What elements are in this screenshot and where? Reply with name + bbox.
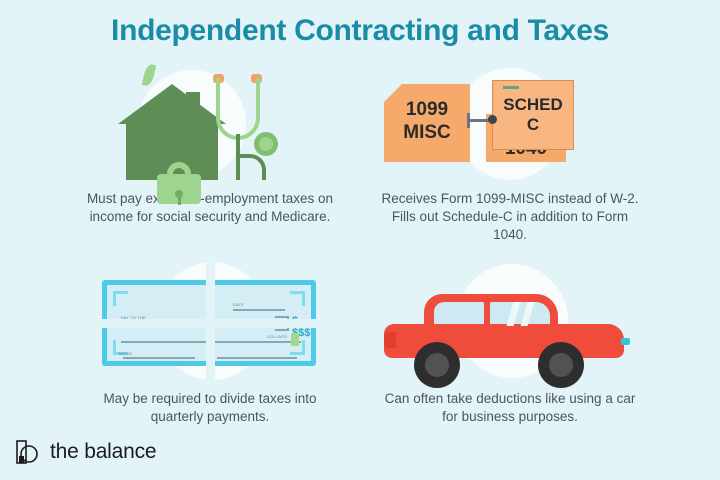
item-caption: Can often take deductions like using a c… [380,390,640,426]
form-card-header-mark [503,86,519,89]
form-card-sched-line2: C [493,115,573,135]
stethoscope-chestpiece [254,132,278,156]
infographic-item-quarterly-payments: DATE PAY TO THE ORDER OF $ $$$ DOLLARS M… [60,262,360,426]
check-corner-top-left [113,291,128,306]
check-date-line [233,309,285,311]
padlock-body [157,174,201,204]
check-signature-line [217,357,297,359]
item-caption: Must pay extra self-employment taxes on … [80,190,340,226]
connector-end-dot [488,115,497,124]
item-caption: May be required to divide taxes into qua… [80,390,340,426]
tax-forms-icon: 1099 MISC 1040 SCHED C [360,62,660,184]
car-wheel-hub [549,353,573,377]
car-wheel-hub [425,353,449,377]
house-lock-stethoscope-icon [60,62,360,184]
car-shape [384,284,634,374]
house-body-shape [126,118,218,180]
item-caption: Receives Form 1099-MISC instead of W-2. … [380,190,640,244]
page-fold-corner [384,84,402,102]
check-dollars-label: DOLLARS [267,334,287,339]
car-icon [360,262,660,384]
stethoscope-curve [236,154,266,180]
stethoscope-chestpiece-inner [259,137,273,151]
page-title: Independent Contracting and Taxes [0,14,720,48]
form-card-sched-line1: SCHED [493,95,573,115]
quarter-divider-vertical [206,262,215,384]
car-headlight [621,338,630,345]
padlock-icon [157,162,201,204]
car-wheel-rear [414,342,460,388]
stethoscope-tube [216,78,260,140]
car-wheel-front [538,342,584,388]
the-balance-logo-icon [14,438,42,466]
form-card-1099-misc: 1099 MISC [384,84,470,162]
check-stamp-mark [291,333,299,346]
infographic-item-business-deductions: Can often take deductions like using a c… [360,262,660,426]
check-corner-top-right [290,291,305,306]
stethoscope-icon [206,70,296,182]
form-card-1099-line2: MISC [384,121,470,144]
check-date-label: DATE [233,302,244,307]
brand-logo[interactable]: the balance [14,438,156,466]
padlock-keyslot [178,196,181,205]
infographic-item-self-employment-tax: Must pay extra self-employment taxes on … [60,62,360,226]
infographic-canvas: Independent Contracting and Taxes [0,0,720,480]
car-window-front [490,302,550,324]
form-card-schedule-c: SCHED C [492,80,574,150]
brand-logo-text: the balance [50,440,156,464]
check-memo-label: MEMO [119,351,132,356]
car-rear-bumper [384,332,396,348]
check-icon: DATE PAY TO THE ORDER OF $ $$$ DOLLARS M… [60,262,360,384]
infographic-item-tax-forms: 1099 MISC 1040 SCHED C Receives Form 109… [360,62,660,244]
check-memo-line [123,357,195,359]
car-window-rear [434,302,484,324]
